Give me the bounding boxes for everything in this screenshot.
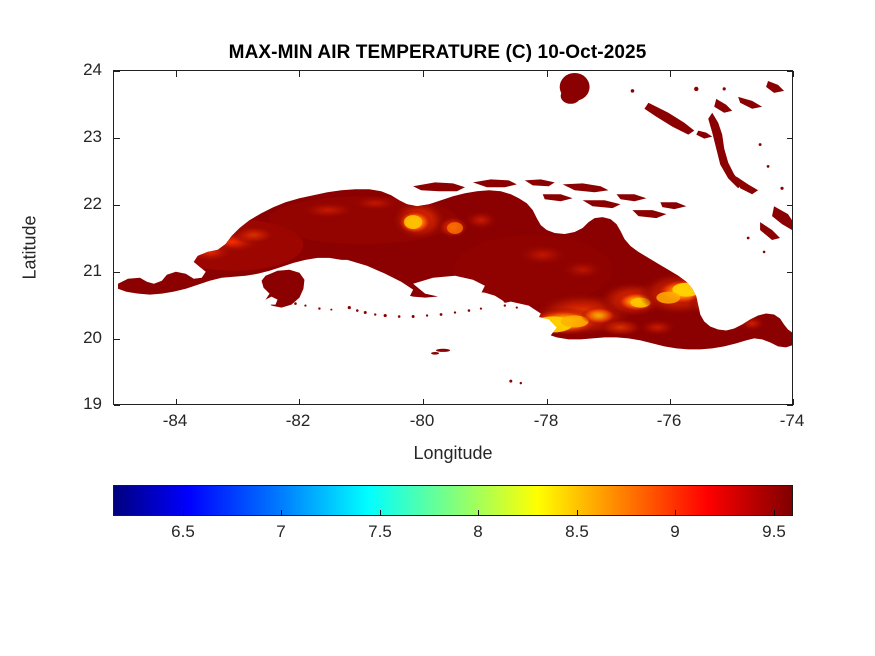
ytick-label-4: 23 [0, 127, 102, 147]
ytick-label-2: 21 [0, 261, 102, 281]
xtick-b4 [547, 399, 548, 405]
x-axis-title: Longitude [113, 443, 793, 464]
colorbar-label-3: 8 [473, 522, 482, 542]
xtick-6 [793, 71, 794, 77]
xtick-2 [299, 71, 300, 77]
temperature-heatmap [114, 71, 792, 404]
xtick-label-3: -78 [534, 411, 559, 431]
colorbar-tick-3 [478, 510, 479, 516]
ytick-r5 [787, 339, 793, 340]
ytick-label-0: 19 [0, 394, 102, 414]
ytick-r3 [787, 205, 793, 206]
xtick-label-5: -74 [780, 411, 805, 431]
xtick-b3 [423, 399, 424, 405]
colorbar-label-2: 7.5 [368, 522, 392, 542]
xtick-4 [547, 71, 548, 77]
xtick-label-4: -76 [657, 411, 682, 431]
ytick-4 [114, 272, 120, 273]
ytick-6 [114, 405, 120, 406]
y-axis-title: Latitude [20, 158, 41, 338]
colorbar-label-4: 8.5 [565, 522, 589, 542]
xtick-5 [670, 71, 671, 77]
ytick-r1 [787, 71, 793, 72]
colorbar-tick-0 [183, 510, 184, 516]
xtick-label-1: -82 [286, 411, 311, 431]
chart-title: MAX-MIN AIR TEMPERATURE (C) 10-Oct-2025 [0, 42, 875, 64]
colorbar[interactable] [113, 485, 793, 516]
colorbar-gradient [113, 485, 793, 516]
xtick-b1 [176, 399, 177, 405]
xtick-3 [423, 71, 424, 77]
ytick-r6 [787, 405, 793, 406]
xtick-1 [176, 71, 177, 77]
ytick-label-5: 24 [0, 60, 102, 80]
ytick-3 [114, 205, 120, 206]
xtick-b2 [299, 399, 300, 405]
ytick-2 [114, 138, 120, 139]
xtick-b6 [793, 399, 794, 405]
ytick-r2 [787, 138, 793, 139]
colorbar-tick-6 [774, 510, 775, 516]
colorbar-tick-4 [577, 510, 578, 516]
colorbar-tick-1 [281, 510, 282, 516]
colorbar-label-5: 9 [670, 522, 679, 542]
xtick-label-0: -84 [163, 411, 188, 431]
colorbar-label-6: 9.5 [762, 522, 786, 542]
colorbar-tick-2 [380, 510, 381, 516]
colorbar-tick-5 [675, 510, 676, 516]
xtick-b5 [670, 399, 671, 405]
map-axes [113, 70, 793, 405]
ytick-label-3: 22 [0, 194, 102, 214]
figure-canvas: MAX-MIN AIR TEMPERATURE (C) 10-Oct-2025 [0, 0, 875, 656]
ytick-1 [114, 71, 120, 72]
ytick-r4 [787, 272, 793, 273]
ytick-5 [114, 339, 120, 340]
ytick-label-1: 20 [0, 328, 102, 348]
xtick-label-2: -80 [410, 411, 435, 431]
colorbar-label-1: 7 [276, 522, 285, 542]
colorbar-label-0: 6.5 [171, 522, 195, 542]
